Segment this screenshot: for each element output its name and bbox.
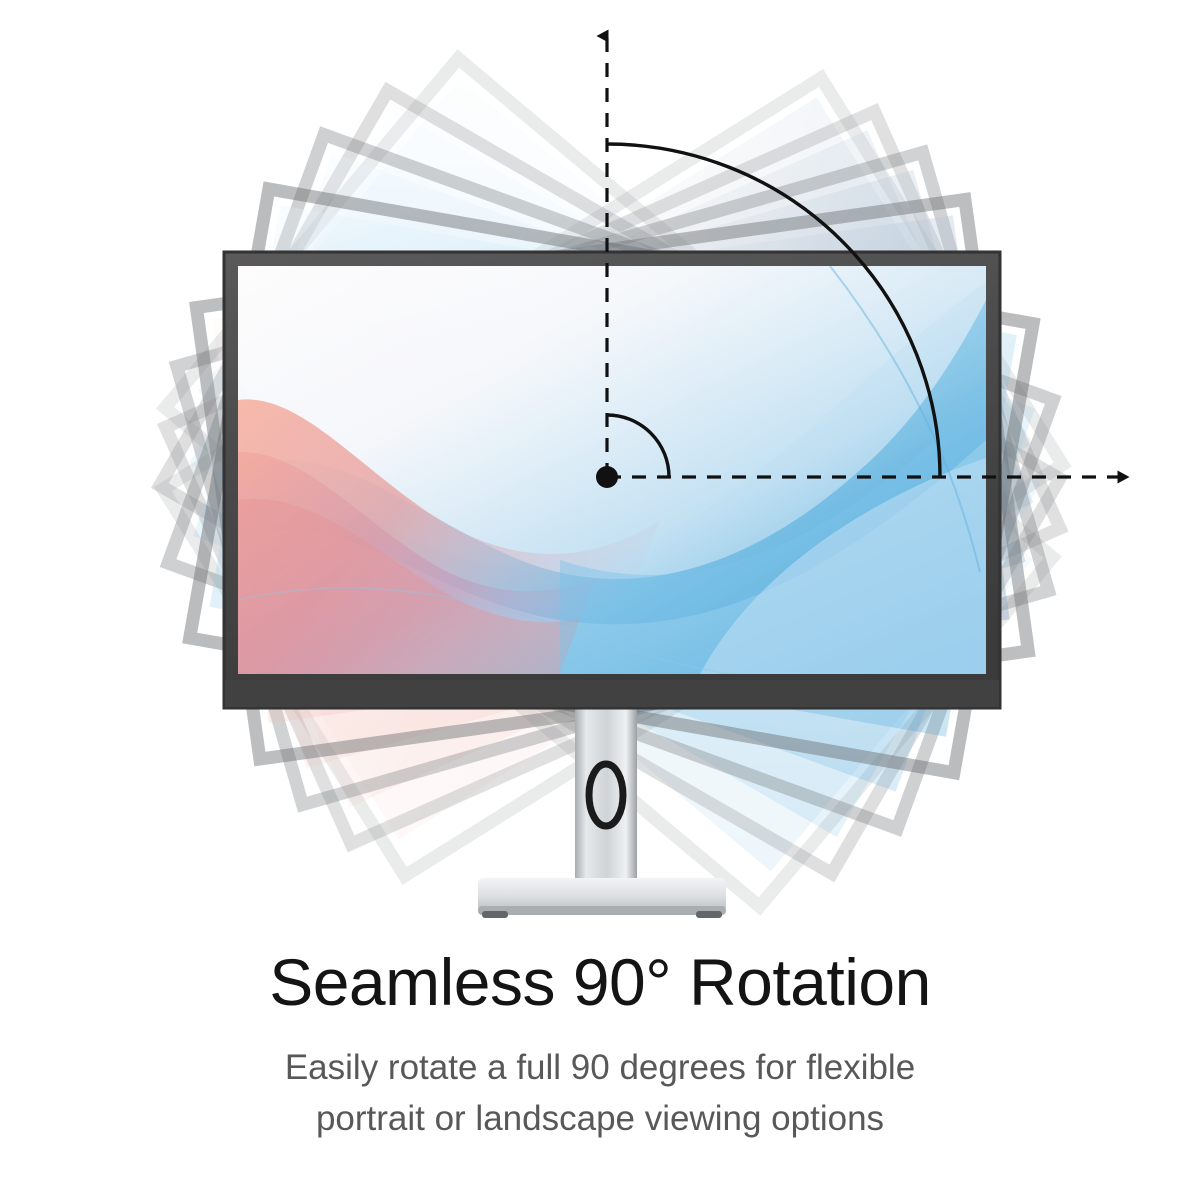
subtitle-line-1: Easily rotate a full 90 degrees for flex… — [0, 1043, 1200, 1094]
product-feature-graphic: Seamless 90° Rotation Easily rotate a fu… — [0, 0, 1200, 1200]
page-subtitle: Easily rotate a full 90 degrees for flex… — [0, 1043, 1200, 1145]
caption-block: Seamless 90° Rotation Easily rotate a fu… — [0, 948, 1200, 1145]
pivot-dot-icon — [596, 466, 618, 488]
subtitle-line-2: portrait or landscape viewing options — [0, 1094, 1200, 1145]
page-title: Seamless 90° Rotation — [0, 948, 1200, 1017]
rotation-diagram — [0, 0, 1200, 940]
